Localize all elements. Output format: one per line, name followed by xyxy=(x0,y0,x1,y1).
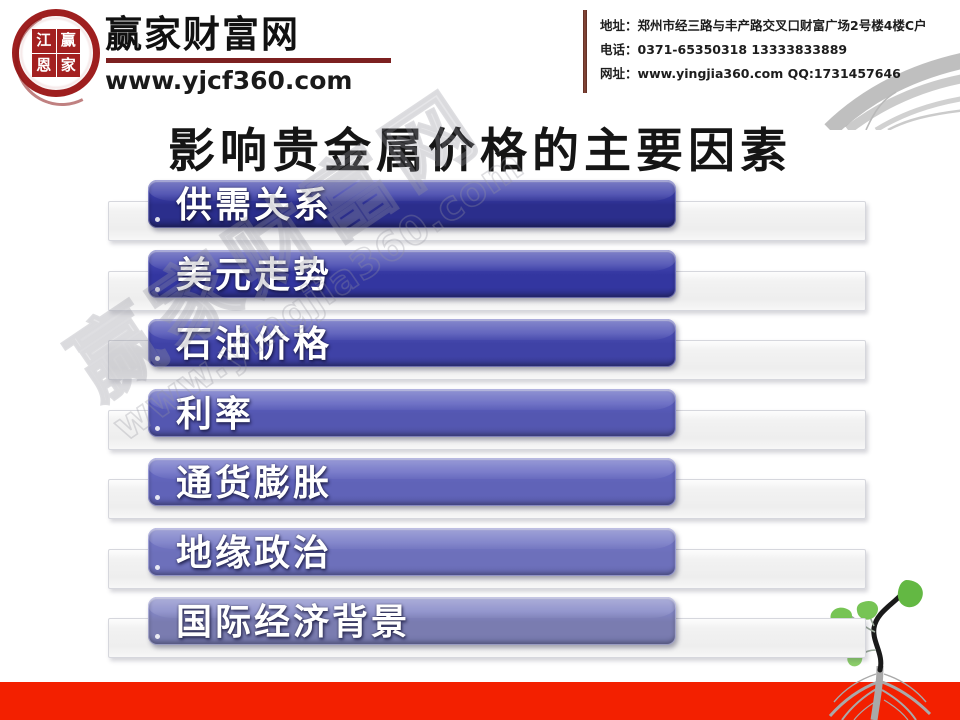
contact-website-value: www.yingjia360.com QQ:1731457646 xyxy=(638,66,901,81)
contact-block: 地址：郑州市经三路与丰产路交叉口财富广场2号楼4楼C户 电话：0371-6535… xyxy=(600,14,950,86)
brand-website: www.yjcf360.com xyxy=(105,66,435,95)
pill-corner-dot xyxy=(155,426,160,431)
page-title: 影响贵金属价格的主要因素 xyxy=(0,112,960,181)
pill-corner-dot xyxy=(155,287,160,292)
contact-address-value: 郑州市经三路与丰产路交叉口财富广场2号楼4楼C户 xyxy=(638,18,927,33)
contact-phone-line: 电话：0371-65350318 13333833889 xyxy=(600,38,950,62)
factor-label: 地缘政治 xyxy=(176,526,332,580)
factor-label: 通货膨胀 xyxy=(176,456,332,510)
factor-row[interactable]: 供需关系 xyxy=(0,178,960,248)
factor-row[interactable]: 国际经济背景 xyxy=(0,595,960,665)
factor-label: 国际经济背景 xyxy=(176,595,410,649)
factor-label: 美元走势 xyxy=(176,248,332,302)
pill-corner-dot xyxy=(155,356,160,361)
contact-phone-label: 电话： xyxy=(600,42,638,57)
seal-char-2: 赢 xyxy=(57,29,81,53)
factor-label: 利率 xyxy=(176,387,254,441)
contact-address-line: 地址：郑州市经三路与丰产路交叉口财富广场2号楼4楼C户 xyxy=(600,14,950,38)
factor-row[interactable]: 美元走势 xyxy=(0,248,960,318)
factor-row[interactable]: 地缘政治 xyxy=(0,526,960,596)
factor-row[interactable]: 石油价格 xyxy=(0,317,960,387)
pill-corner-dot xyxy=(155,634,160,639)
contact-website-line: 网址：www.yingjia360.com QQ:1731457646 xyxy=(600,62,950,86)
seal-char-1: 江 xyxy=(32,29,56,53)
header-divider xyxy=(583,10,587,93)
factor-label: 供需关系 xyxy=(176,178,332,232)
pill-corner-dot xyxy=(155,217,160,222)
contact-phone-value: 0371-65350318 13333833889 xyxy=(638,42,848,57)
factor-label: 石油价格 xyxy=(176,317,332,371)
factor-row[interactable]: 通货膨胀 xyxy=(0,456,960,526)
seal-char-3: 恩 xyxy=(32,54,56,78)
page-header: 江 赢 恩 家 赢家财富网 www.yjcf360.com 地址：郑州市经三路与… xyxy=(0,0,960,110)
brand-name: 赢家财富网 xyxy=(105,14,435,56)
company-seal-logo: 江 赢 恩 家 xyxy=(12,9,100,97)
footer-red-band xyxy=(0,682,960,720)
seal-char-4: 家 xyxy=(57,54,81,78)
contact-website-label: 网址： xyxy=(600,66,638,81)
factor-row[interactable]: 利率 xyxy=(0,387,960,457)
brand-block: 赢家财富网 www.yjcf360.com xyxy=(105,14,435,95)
slide-canvas: 江 赢 恩 家 赢家财富网 www.yjcf360.com 地址：郑州市经三路与… xyxy=(0,0,960,720)
pill-corner-dot xyxy=(155,565,160,570)
brand-underline xyxy=(106,58,391,63)
contact-address-label: 地址： xyxy=(600,18,638,33)
pill-corner-dot xyxy=(155,495,160,500)
seal-character-grid: 江 赢 恩 家 xyxy=(32,29,80,77)
factor-list: 供需关系美元走势石油价格利率通货膨胀地缘政治国际经济背景 xyxy=(0,178,960,668)
